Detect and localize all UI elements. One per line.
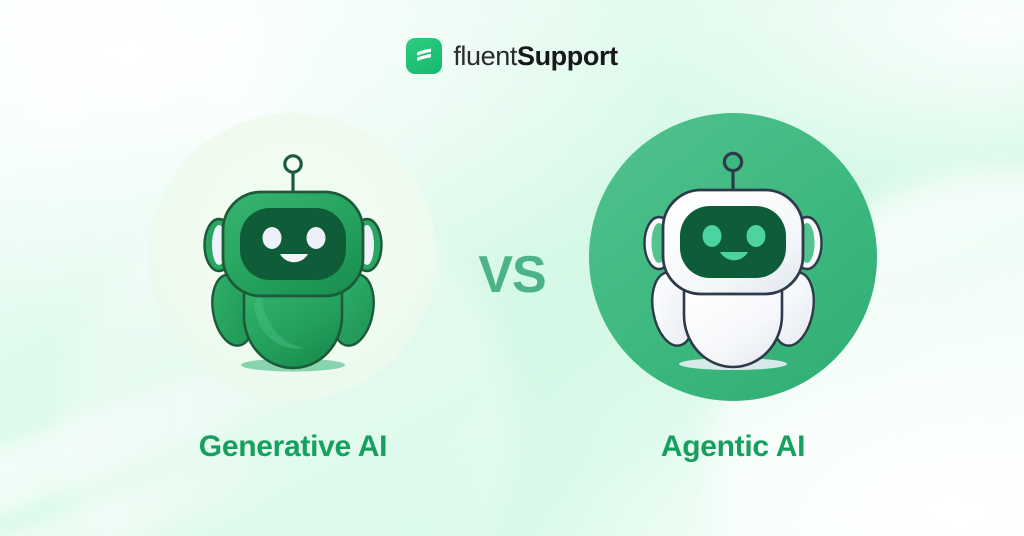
brand-name-light: fluent [453,41,517,71]
generative-ai-disc [148,112,438,402]
brand-wordmark: fluentSupport [453,43,617,70]
brand-name-bold: Support [517,41,618,71]
vs-label: VS [464,249,560,301]
comparison-panel-agentic-ai: Agentic AI [588,112,878,402]
brand-logo[interactable]: fluentSupport [0,38,1024,74]
face-screen [240,208,346,280]
agentic-ai-label: Agentic AI [588,430,878,464]
face-screen [680,206,786,278]
agentic-ai-disc [588,112,878,402]
eye-left [263,227,282,249]
eye-left [703,225,722,247]
comparison-panel-generative-ai: Generative AI [148,112,438,402]
generative-ai-label: Generative AI [148,430,438,464]
poster-stage: fluentSupport [0,0,1024,536]
eye-right [747,225,766,247]
eye-right [307,227,326,249]
fluent-support-logo-mark [406,38,442,74]
